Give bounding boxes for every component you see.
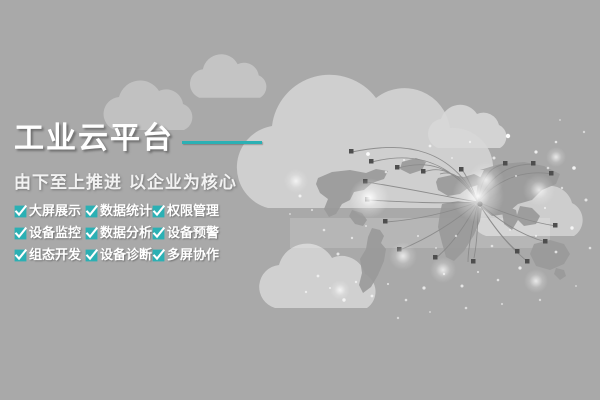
feature-item[interactable]: 数据分析 xyxy=(85,227,152,240)
checkbox-checked-icon xyxy=(85,227,98,240)
feature-item[interactable]: 设备预警 xyxy=(152,227,219,240)
feature-label: 大屏展示 xyxy=(29,205,81,218)
title-underline-rule xyxy=(182,141,262,144)
feature-label: 设备监控 xyxy=(29,227,81,240)
checkbox-checked-icon xyxy=(14,205,27,218)
feature-label: 设备诊断 xyxy=(100,249,152,262)
feature-item[interactable]: 数据统计 xyxy=(85,205,152,218)
feature-list: 大屏展示 数据统计 权限管理 xyxy=(14,200,219,266)
checkbox-checked-icon xyxy=(14,249,27,262)
checkbox-checked-icon xyxy=(152,227,165,240)
feature-label: 设备预警 xyxy=(167,227,219,240)
checkbox-checked-icon xyxy=(14,227,27,240)
feature-item[interactable]: 组态开发 xyxy=(14,249,85,262)
page-title: 工业云平台 xyxy=(14,124,174,154)
title-row: 工业云平台 xyxy=(14,124,262,154)
feature-label: 数据统计 xyxy=(100,205,152,218)
feature-item[interactable]: 设备监控 xyxy=(14,227,85,240)
feature-item[interactable]: 大屏展示 xyxy=(14,205,85,218)
subtitle: 由下至上推进 以企业为核心 xyxy=(14,168,237,193)
checkbox-checked-icon xyxy=(85,205,98,218)
feature-label: 数据分析 xyxy=(100,227,152,240)
feature-item[interactable]: 权限管理 xyxy=(152,205,219,218)
checkbox-checked-icon xyxy=(85,249,98,262)
feature-label: 组态开发 xyxy=(29,249,81,262)
feature-label: 权限管理 xyxy=(167,205,219,218)
feature-item[interactable]: 设备诊断 xyxy=(85,249,152,262)
feature-item[interactable]: 多屏协作 xyxy=(152,249,219,262)
checkbox-checked-icon xyxy=(152,249,165,262)
feature-label: 多屏协作 xyxy=(167,249,219,262)
headline-block: 工业云平台 由下至上推进 以企业为核心 大屏展示 xyxy=(0,0,300,400)
checkbox-checked-icon xyxy=(152,205,165,218)
industrial-cloud-platform-banner: 工业云平台 由下至上推进 以企业为核心 大屏展示 xyxy=(0,0,600,400)
